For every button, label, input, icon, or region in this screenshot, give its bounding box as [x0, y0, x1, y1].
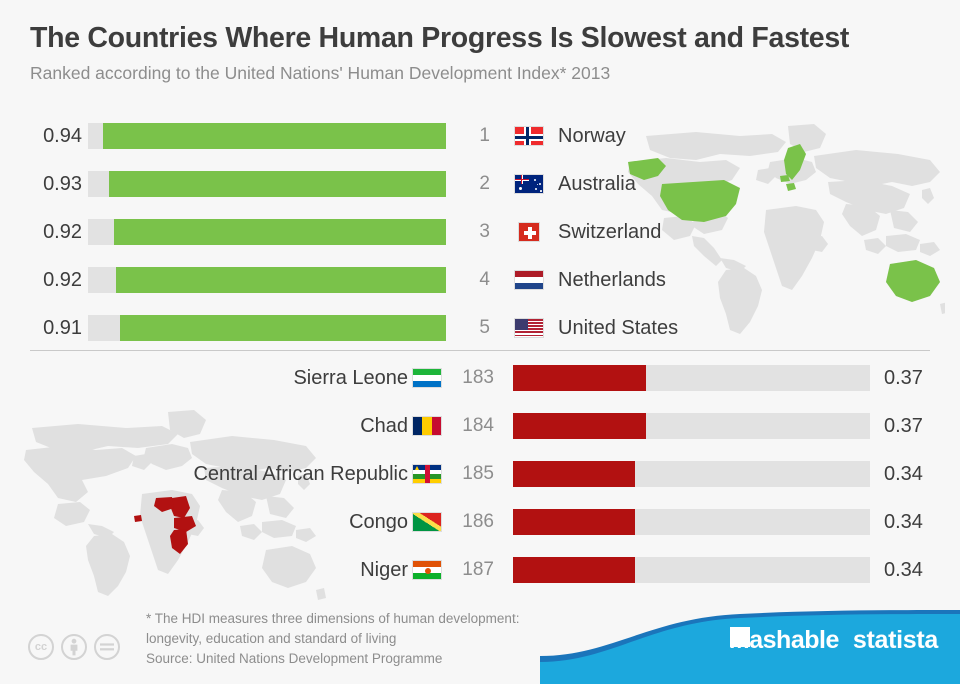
- bar-fill-red: [513, 365, 646, 391]
- bar-fill-green: [120, 315, 446, 341]
- footnote-line-2: longevity, education and standard of liv…: [146, 629, 519, 649]
- bar-track: [513, 365, 870, 391]
- rank-label: 5: [462, 311, 490, 345]
- bar-fill-red: [513, 461, 635, 487]
- flag-netherlands: [514, 270, 544, 290]
- value-label: 0.91: [30, 311, 82, 345]
- value-label: 0.92: [30, 263, 82, 297]
- bar-track: [88, 123, 446, 149]
- bar-track: [513, 557, 870, 583]
- statista-logo: statista: [853, 626, 938, 655]
- infographic-root: The Countries Where Human Progress Is Sl…: [0, 0, 960, 684]
- flag-norway: [514, 126, 544, 146]
- rank-label: 183: [452, 361, 494, 395]
- country-name: Central African Republic: [120, 457, 408, 491]
- country-name: Norway: [558, 119, 626, 153]
- cc-icon: cc: [28, 634, 54, 660]
- bar-track: [88, 171, 446, 197]
- flag-congo: [412, 512, 442, 532]
- brand-logos: Mashable statista: [729, 626, 938, 655]
- flag-sierra-leone: [412, 368, 442, 388]
- table-row: 0.93 2 Australia: [0, 167, 960, 201]
- page-title: The Countries Where Human Progress Is Sl…: [30, 22, 849, 55]
- bar-fill-red: [513, 413, 646, 439]
- bar-fill-green: [109, 171, 446, 197]
- flag-australia: [514, 174, 544, 194]
- value-label: 0.37: [884, 409, 944, 443]
- rank-label: 184: [452, 409, 494, 443]
- rank-label: 186: [452, 505, 494, 539]
- rank-label: 187: [452, 553, 494, 587]
- footnote-line-3: Source: United Nations Development Progr…: [146, 649, 519, 669]
- bar-track: [88, 219, 446, 245]
- table-row: 0.91 5 United States: [0, 311, 960, 345]
- bar-fill-red: [513, 557, 635, 583]
- table-row: Niger 187 0.34: [0, 553, 960, 587]
- country-name: Australia: [558, 167, 636, 201]
- country-name: Niger: [120, 553, 408, 587]
- bar-track: [88, 315, 446, 341]
- bar-track: [513, 509, 870, 535]
- bar-fill-green: [114, 219, 446, 245]
- flag-niger: [412, 560, 442, 580]
- value-label: 0.34: [884, 553, 944, 587]
- value-label: 0.37: [884, 361, 944, 395]
- bar-track: [513, 461, 870, 487]
- value-label: 0.93: [30, 167, 82, 201]
- table-row: Sierra Leone 183 0.37: [0, 361, 960, 395]
- no-derivatives-icon: [94, 634, 120, 660]
- table-row: 0.92 3 Switzerland: [0, 215, 960, 249]
- rank-label: 1: [462, 119, 490, 153]
- bar-track: [513, 413, 870, 439]
- table-row: Chad 184 0.37: [0, 409, 960, 443]
- flag-switzerland: [514, 222, 540, 242]
- bar-track: [88, 267, 446, 293]
- flag-chad: [412, 416, 442, 436]
- table-row: 0.92 4 Netherlands: [0, 263, 960, 297]
- country-name: United States: [558, 311, 678, 345]
- table-row: Central African Republic 185 0.34: [0, 457, 960, 491]
- country-name: Switzerland: [558, 215, 661, 249]
- footnote-line-1: * The HDI measures three dimensions of h…: [146, 609, 519, 629]
- section-divider: [30, 350, 930, 351]
- statista-mark-icon: [729, 626, 751, 648]
- rank-label: 185: [452, 457, 494, 491]
- bar-fill-red: [513, 509, 635, 535]
- flag-united-states: [514, 318, 544, 338]
- value-label: 0.34: [884, 457, 944, 491]
- country-name: Netherlands: [558, 263, 666, 297]
- bar-fill-green: [103, 123, 446, 149]
- value-label: 0.94: [30, 119, 82, 153]
- flag-central-african-republic: [412, 464, 442, 484]
- rank-label: 3: [462, 215, 490, 249]
- license-icons: cc: [28, 634, 120, 660]
- table-row: 0.94 1 Norway: [0, 119, 960, 153]
- country-name: Sierra Leone: [120, 361, 408, 395]
- value-label: 0.92: [30, 215, 82, 249]
- country-name: Congo: [120, 505, 408, 539]
- value-label: 0.34: [884, 505, 944, 539]
- bar-fill-green: [116, 267, 446, 293]
- footnote: * The HDI measures three dimensions of h…: [146, 609, 519, 669]
- table-row: Congo 186 0.34: [0, 505, 960, 539]
- attribution-icon: [61, 634, 87, 660]
- brand-banner: Mashable statista: [540, 600, 960, 684]
- rank-label: 2: [462, 167, 490, 201]
- page-subtitle: Ranked according to the United Nations' …: [30, 63, 610, 84]
- rank-label: 4: [462, 263, 490, 297]
- country-name: Chad: [120, 409, 408, 443]
